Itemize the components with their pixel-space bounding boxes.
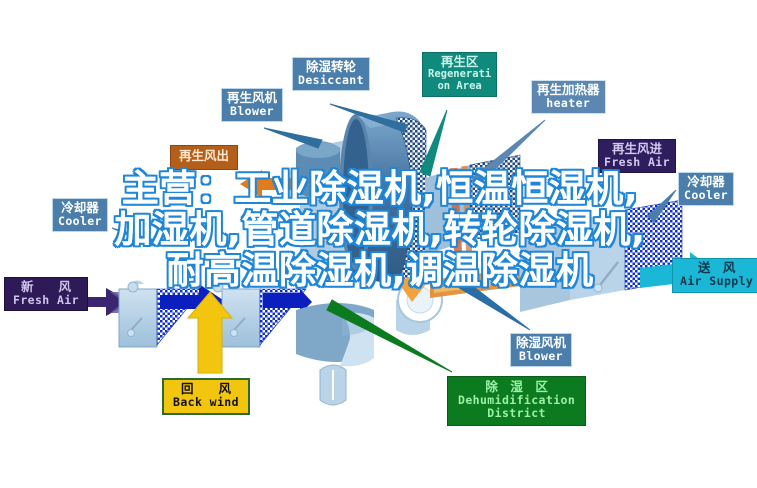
label-regeneration-heater-cn: 再生加热器	[537, 83, 600, 97]
regeneration-blower-unit	[296, 141, 340, 198]
label-dehumidification-district-en2: District	[458, 407, 575, 420]
label-cooler-right: 冷却器 Cooler	[678, 172, 734, 206]
airflow-schematic	[0, 0, 757, 488]
label-air-supply: 送 风 Air Supply	[672, 258, 757, 293]
label-cooler-right-en: Cooler	[684, 189, 728, 202]
label-fresh-air: 新 风 Fresh Air	[4, 277, 88, 311]
label-desiccant-en: Desiccant	[298, 74, 364, 87]
label-dehumidification-blower-en: Blower	[516, 350, 566, 363]
label-regeneration-area: 再生区 Regenerati on Area	[422, 52, 497, 97]
label-air-supply-cn: 送 风	[680, 261, 753, 275]
label-regeneration-air-in-cn: 再生风进	[604, 142, 670, 156]
label-cooler-left: 冷却器 Cooler	[52, 198, 108, 232]
label-regeneration-air-out-cn: 再生风出	[179, 149, 229, 163]
regeneration-out-arrow	[240, 170, 300, 198]
label-cooler-left-cn: 冷却器	[58, 201, 102, 215]
label-fresh-air-en: Fresh Air	[13, 294, 79, 307]
label-regeneration-air-in-en: Fresh Air	[604, 156, 670, 169]
dehumidifier-diagram-image: 除湿转轮 Desiccant 再生风机 Blower 再生区 Regenerat…	[0, 0, 757, 488]
label-dehumidification-district-cn: 除 湿 区	[458, 380, 575, 394]
label-regeneration-area-cn: 再生区	[428, 55, 491, 69]
label-desiccant: 除湿转轮 Desiccant	[292, 57, 370, 91]
label-regeneration-air-out: 再生风出	[170, 145, 238, 170]
label-back-wind: 回 风 Back wind	[162, 378, 250, 415]
dehumidification-fan-unit	[396, 268, 520, 335]
label-dehumidification-blower: 除湿风机 Blower	[510, 333, 572, 367]
label-back-wind-en: Back wind	[173, 396, 239, 409]
label-desiccant-cn: 除湿转轮	[298, 60, 364, 74]
label-cooler-right-cn: 冷却器	[684, 175, 728, 189]
label-regeneration-blower-en: Blower	[227, 105, 277, 118]
precool-coil-unit	[119, 281, 203, 348]
label-regeneration-blower: 再生风机 Blower	[221, 88, 283, 122]
label-fresh-air-cn: 新 风	[13, 280, 79, 294]
label-dehumidification-district-en1: Dehumidification	[458, 394, 575, 407]
label-regeneration-air-in: 再生风进 Fresh Air	[598, 139, 676, 173]
label-cooler-left-en: Cooler	[58, 215, 102, 228]
label-regeneration-heater: 再生加热器 heater	[531, 80, 606, 114]
label-back-wind-cn: 回 风	[173, 382, 239, 396]
label-dehumidification-blower-cn: 除湿风机	[516, 336, 566, 350]
label-dehumidification-district: 除 湿 区 Dehumidification District	[447, 376, 586, 426]
label-regeneration-heater-en: heater	[537, 97, 600, 110]
regeneration-heater-unit	[425, 155, 520, 260]
label-regeneration-area-en2: on Area	[428, 81, 491, 93]
label-regeneration-area-en1: Regenerati	[428, 69, 491, 81]
label-air-supply-en: Air Supply	[680, 275, 753, 288]
label-regeneration-blower-cn: 再生风机	[227, 91, 277, 105]
